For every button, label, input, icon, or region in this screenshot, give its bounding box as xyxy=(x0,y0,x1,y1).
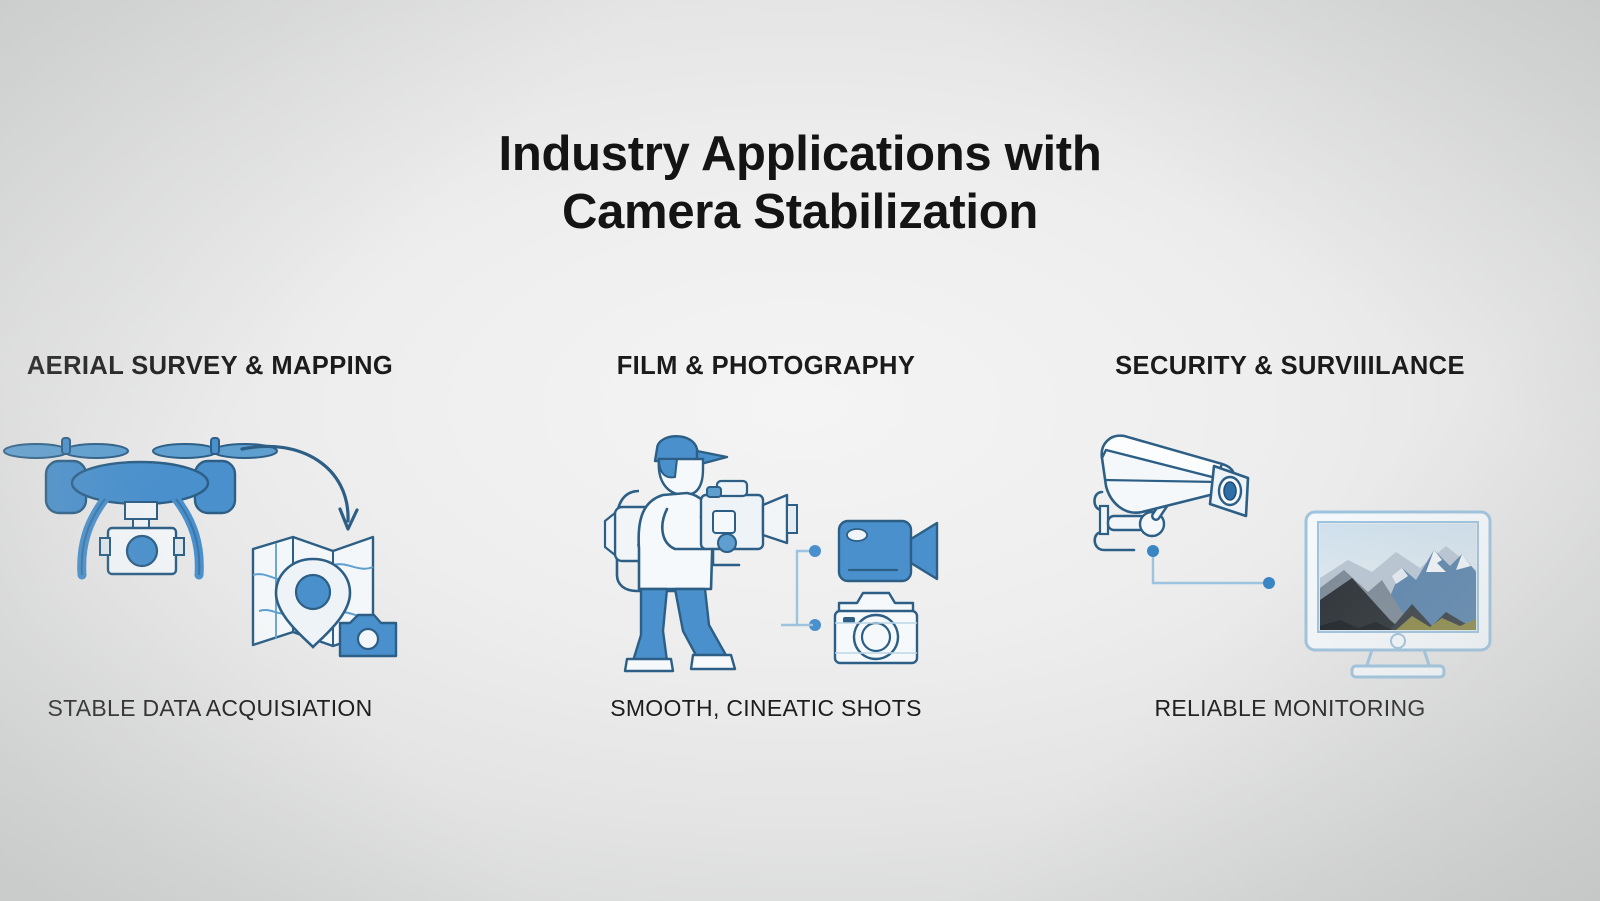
mountain-landscape-image xyxy=(1320,524,1476,630)
cameraman-icon xyxy=(605,436,797,671)
column-security-surveillance: SECURITY & SURVIIILANCE xyxy=(1030,352,1550,722)
drone-map-svg xyxy=(10,425,410,675)
drone-icon xyxy=(4,438,277,575)
column-caption-film: SMOOTH, CINEATIC SHOTS xyxy=(506,695,1026,722)
illustration-cameraman xyxy=(506,415,1026,685)
gimbal-camera-icon xyxy=(100,528,184,574)
title-line-2: Camera Stabilization xyxy=(0,184,1600,242)
connector-line-icon xyxy=(1147,545,1275,589)
dslr-camera-icon xyxy=(835,593,917,663)
column-heading-aerial: AERIAL SURVEY & MAPPING xyxy=(0,352,470,381)
connector-line-icon xyxy=(781,545,821,631)
video-camera-icon xyxy=(839,521,937,581)
column-film-photography: FILM & PHOTOGRAPHY xyxy=(506,352,1026,722)
column-heading-film: FILM & PHOTOGRAPHY xyxy=(506,352,1026,381)
column-caption-aerial: STABLE DATA ACQUISIATION xyxy=(0,695,470,722)
column-heading-security: SECURITY & SURVIIILANCE xyxy=(1030,352,1550,381)
column-aerial-survey: AERIAL SURVEY & MAPPING xyxy=(0,352,470,722)
column-caption-security: RELIABLE MONITORING xyxy=(1030,695,1550,722)
curved-arrow-icon xyxy=(242,446,357,529)
slide-canvas: Industry Applications with Camera Stabil… xyxy=(0,0,1600,901)
cctv-monitor-svg xyxy=(1090,420,1490,680)
illustration-drone-mapping xyxy=(0,415,470,685)
cameraman-svg xyxy=(601,425,931,675)
page-title: Industry Applications with Camera Stabil… xyxy=(0,126,1600,242)
title-line-1: Industry Applications with xyxy=(499,127,1102,181)
pro-video-camera-icon xyxy=(701,481,797,565)
illustration-cctv-monitor xyxy=(1030,415,1550,685)
monitor-icon xyxy=(1306,512,1490,677)
cctv-camera-icon xyxy=(1095,436,1249,550)
